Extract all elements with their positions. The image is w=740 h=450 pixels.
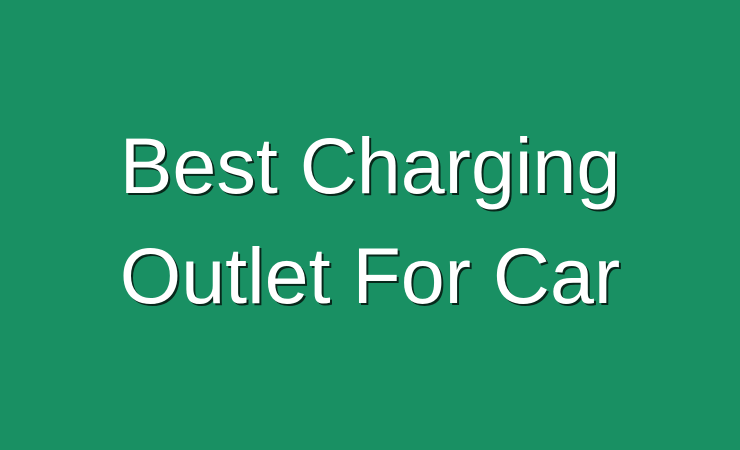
banner-canvas: Best Charging Outlet For Car — [0, 0, 740, 450]
banner-title: Best Charging Outlet For Car — [0, 111, 740, 331]
banner-title-line-2: Outlet For Car — [24, 221, 716, 331]
banner-title-line-1: Best Charging — [24, 111, 716, 221]
